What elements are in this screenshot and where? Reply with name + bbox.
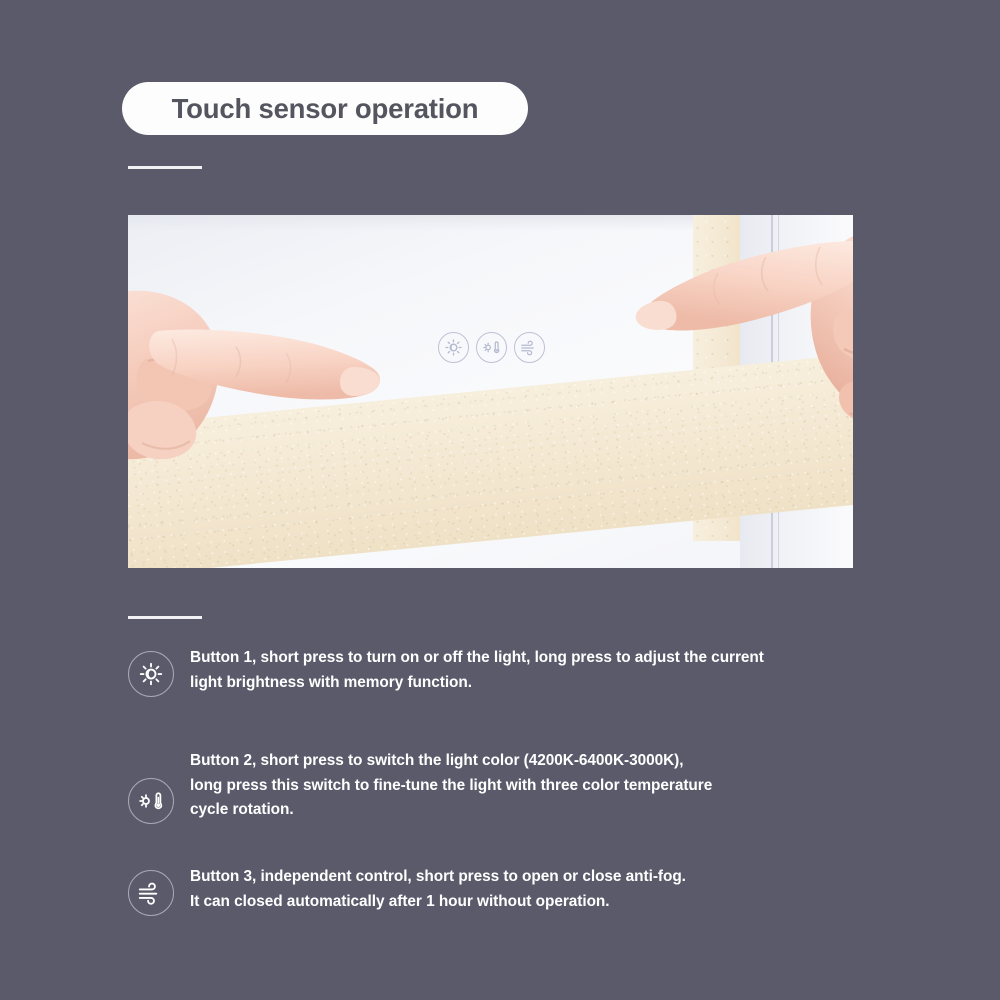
product-photo [128, 215, 853, 568]
page-title: Touch sensor operation [172, 93, 479, 125]
color-temperature-icon [128, 778, 174, 824]
page-title-pill: Touch sensor operation [122, 82, 528, 135]
list-item: Button 2, short press to switch the ligh… [128, 749, 908, 824]
color-temperature-icon[interactable] [476, 332, 507, 363]
anti-fog-icon[interactable] [514, 332, 545, 363]
touch-sensor-icon-row [438, 332, 545, 363]
list-item-text: Button 3, independent control, short pre… [190, 865, 908, 914]
list-item-text: Button 1, short press to turn on or off … [190, 646, 908, 695]
list-item-text: Button 2, short press to switch the ligh… [190, 749, 908, 823]
right-hand-pointing-left [598, 215, 853, 487]
divider-top [128, 166, 202, 169]
brightness-icon [128, 651, 174, 697]
list-item: Button 1, short press to turn on or off … [128, 646, 908, 697]
anti-fog-icon [128, 870, 174, 916]
left-hand-pointing-right [128, 255, 418, 515]
brightness-icon[interactable] [438, 332, 469, 363]
divider-bottom [128, 616, 202, 619]
list-item: Button 3, independent control, short pre… [128, 865, 908, 916]
